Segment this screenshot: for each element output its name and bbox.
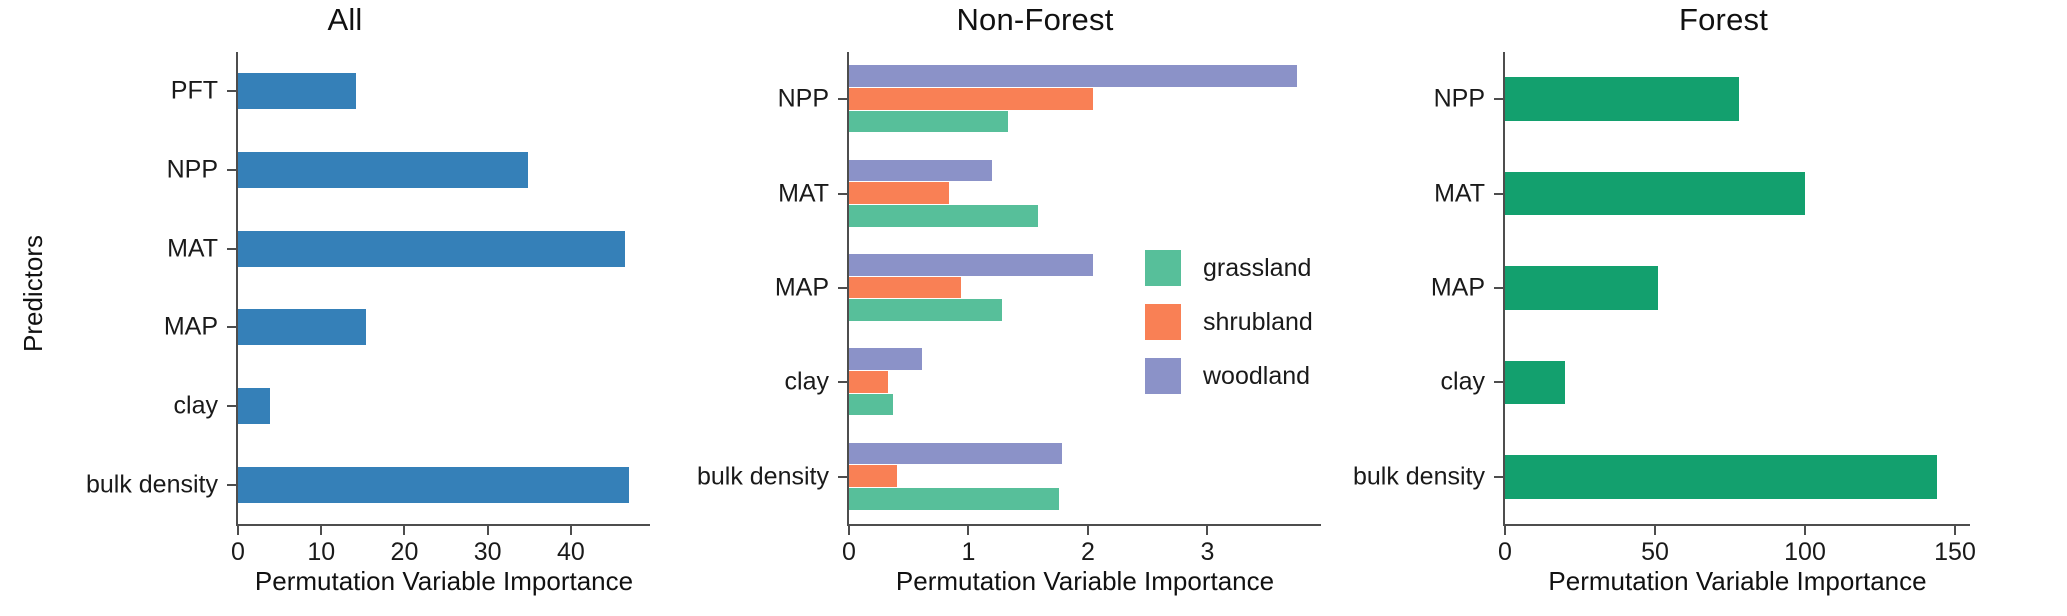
x-axis-line: [847, 524, 1321, 526]
panel-title-non-forest: Non-Forest: [690, 2, 1380, 38]
bar-woodland: [849, 254, 1093, 276]
x-axis-tick: [967, 526, 969, 535]
bar: [1505, 361, 1565, 404]
bar: [238, 388, 270, 424]
y-axis-tick: [1494, 193, 1503, 195]
x-axis-tick-label: 30: [474, 538, 502, 567]
x-axis-tick-label: 2: [1081, 538, 1095, 567]
y-axis-tick: [1494, 476, 1503, 478]
y-axis-tick: [227, 405, 236, 407]
y-axis-tick: [227, 169, 236, 171]
bar: [238, 467, 629, 503]
figure-root: All Predictors 010203040PFTNPPMATMAPclay…: [0, 0, 2067, 616]
x-axis-tick-label: 1: [962, 538, 976, 567]
x-axis-tick: [320, 526, 322, 535]
y-axis-tick: [838, 287, 847, 289]
legend-item-woodland[interactable]: woodland: [1145, 358, 1310, 394]
legend-item-shrubland[interactable]: shrubland: [1145, 304, 1313, 340]
y-axis-tick-label: bulk density: [1353, 462, 1485, 491]
y-axis-tick-label: MAT: [778, 179, 829, 208]
legend-item-label: woodland: [1203, 362, 1310, 391]
plot-area-forest: 050100150NPPMATMAPclaybulk density: [1505, 52, 1970, 524]
x-axis-tick-label: 0: [842, 538, 856, 567]
panel-title-forest: Forest: [1380, 2, 2067, 38]
bar-shrubland: [849, 371, 888, 393]
y-axis-tick: [838, 381, 847, 383]
x-axis-tick-label: 3: [1201, 538, 1215, 567]
y-axis-tick-label: clay: [174, 392, 218, 421]
x-axis-tick: [1804, 526, 1806, 535]
x-axis-tick: [1654, 526, 1656, 535]
x-axis-tick: [570, 526, 572, 535]
bar-grassland: [849, 488, 1059, 510]
bar-shrubland: [849, 465, 897, 487]
x-axis-tick-label: 40: [557, 538, 585, 567]
x-axis-tick: [848, 526, 850, 535]
y-axis-tick-label: MAT: [1434, 179, 1485, 208]
panel-non-forest: Non-Forest 0123NPPMATMAPclaybulk density…: [690, 0, 1380, 616]
legend-item-grassland[interactable]: grassland: [1145, 250, 1311, 286]
y-axis-tick: [1494, 287, 1503, 289]
y-axis-tick-label: bulk density: [697, 462, 829, 491]
bar-grassland: [849, 299, 1002, 321]
y-axis-tick-label: MAT: [167, 234, 218, 263]
x-axis-tick: [487, 526, 489, 535]
y-axis-tick: [1494, 381, 1503, 383]
y-axis-tick: [227, 248, 236, 250]
x-axis-tick-label: 0: [231, 538, 245, 567]
x-axis-tick: [403, 526, 405, 535]
bar: [238, 73, 356, 109]
x-axis-tick: [237, 526, 239, 535]
legend: grasslandshrublandwoodland: [1145, 250, 1375, 410]
y-axis-tick-label: PFT: [171, 77, 218, 106]
bar-shrubland: [849, 277, 961, 299]
y-axis-tick: [838, 476, 847, 478]
y-axis-tick: [838, 98, 847, 100]
x-axis-tick: [1954, 526, 1956, 535]
panel-forest: Forest 050100150NPPMATMAPclaybulk densit…: [1380, 0, 2067, 616]
bar-shrubland: [849, 88, 1093, 110]
x-axis-title-all: Permutation Variable Importance: [255, 566, 633, 597]
y-axis-tick-label: MAP: [775, 274, 829, 303]
legend-swatch-icon: [1145, 304, 1181, 340]
y-axis-tick: [227, 90, 236, 92]
y-axis-tick-label: clay: [1441, 368, 1485, 397]
y-axis-tick-label: NPP: [167, 156, 218, 185]
x-axis-tick: [1087, 526, 1089, 535]
legend-swatch-icon: [1145, 250, 1181, 286]
y-axis-tick-label: bulk density: [86, 470, 218, 499]
panel-all: All Predictors 010203040PFTNPPMATMAPclay…: [0, 0, 690, 616]
bar-woodland: [849, 160, 992, 182]
x-axis-tick-label: 50: [1641, 538, 1669, 567]
bar: [1505, 77, 1739, 120]
panel-title-all: All: [0, 2, 690, 38]
bar: [238, 309, 366, 345]
bar-grassland: [849, 394, 893, 416]
bar: [238, 152, 528, 188]
bar-woodland: [849, 348, 922, 370]
y-axis-tick: [1494, 98, 1503, 100]
y-axis-tick-label: MAP: [1431, 274, 1485, 303]
x-axis-tick: [1206, 526, 1208, 535]
x-axis-title-non-forest: Permutation Variable Importance: [896, 566, 1274, 597]
x-axis-title-forest: Permutation Variable Importance: [1548, 566, 1926, 597]
bar: [1505, 455, 1937, 498]
x-axis-line: [236, 524, 650, 526]
x-axis-tick-label: 0: [1498, 538, 1512, 567]
x-axis-tick-label: 10: [307, 538, 335, 567]
y-axis-tick: [227, 484, 236, 486]
legend-swatch-icon: [1145, 358, 1181, 394]
y-axis-tick-label: NPP: [1434, 85, 1485, 114]
bar: [238, 231, 625, 267]
x-axis-tick-label: 100: [1784, 538, 1826, 567]
y-axis-tick-label: MAP: [164, 313, 218, 342]
bar-grassland: [849, 205, 1038, 227]
bar-woodland: [849, 443, 1062, 465]
bar-shrubland: [849, 182, 949, 204]
y-axis-title: Predictors: [18, 235, 49, 352]
bar: [1505, 266, 1658, 309]
legend-item-label: grassland: [1203, 254, 1311, 283]
bar-grassland: [849, 111, 1008, 133]
x-axis-tick-label: 20: [391, 538, 419, 567]
y-axis-line: [236, 52, 238, 524]
plot-area-all: 010203040PFTNPPMATMAPclaybulk density: [238, 52, 650, 524]
y-axis-tick-label: clay: [785, 368, 829, 397]
x-axis-line: [1503, 524, 1970, 526]
bar: [1505, 172, 1805, 215]
y-axis-tick-label: NPP: [778, 85, 829, 114]
bar-woodland: [849, 65, 1297, 87]
x-axis-tick: [1504, 526, 1506, 535]
y-axis-tick: [838, 193, 847, 195]
y-axis-tick: [227, 326, 236, 328]
legend-item-label: shrubland: [1203, 308, 1313, 337]
x-axis-tick-label: 150: [1934, 538, 1976, 567]
